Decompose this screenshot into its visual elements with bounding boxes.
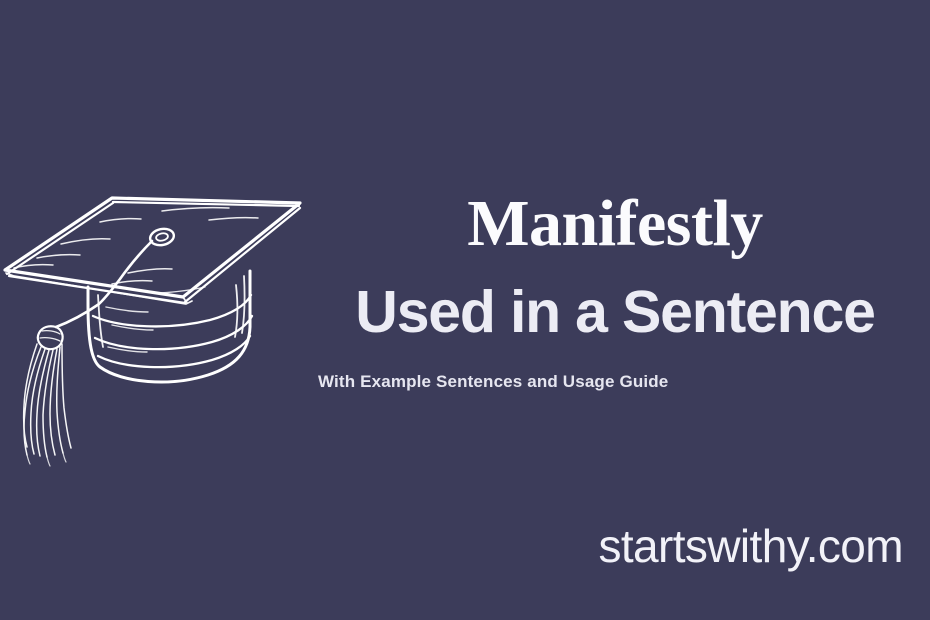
text-block: Manifestly Used in a Sentence With Examp… bbox=[318, 190, 912, 393]
banner-canvas: Manifestly Used in a Sentence With Examp… bbox=[0, 0, 930, 620]
brand-domain: startswithy.com bbox=[598, 521, 903, 572]
subtitle: With Example Sentences and Usage Guide bbox=[318, 372, 912, 392]
headword: Manifestly bbox=[318, 190, 912, 259]
graduation-cap-icon bbox=[0, 175, 310, 460]
headline: Used in a Sentence bbox=[318, 281, 912, 345]
